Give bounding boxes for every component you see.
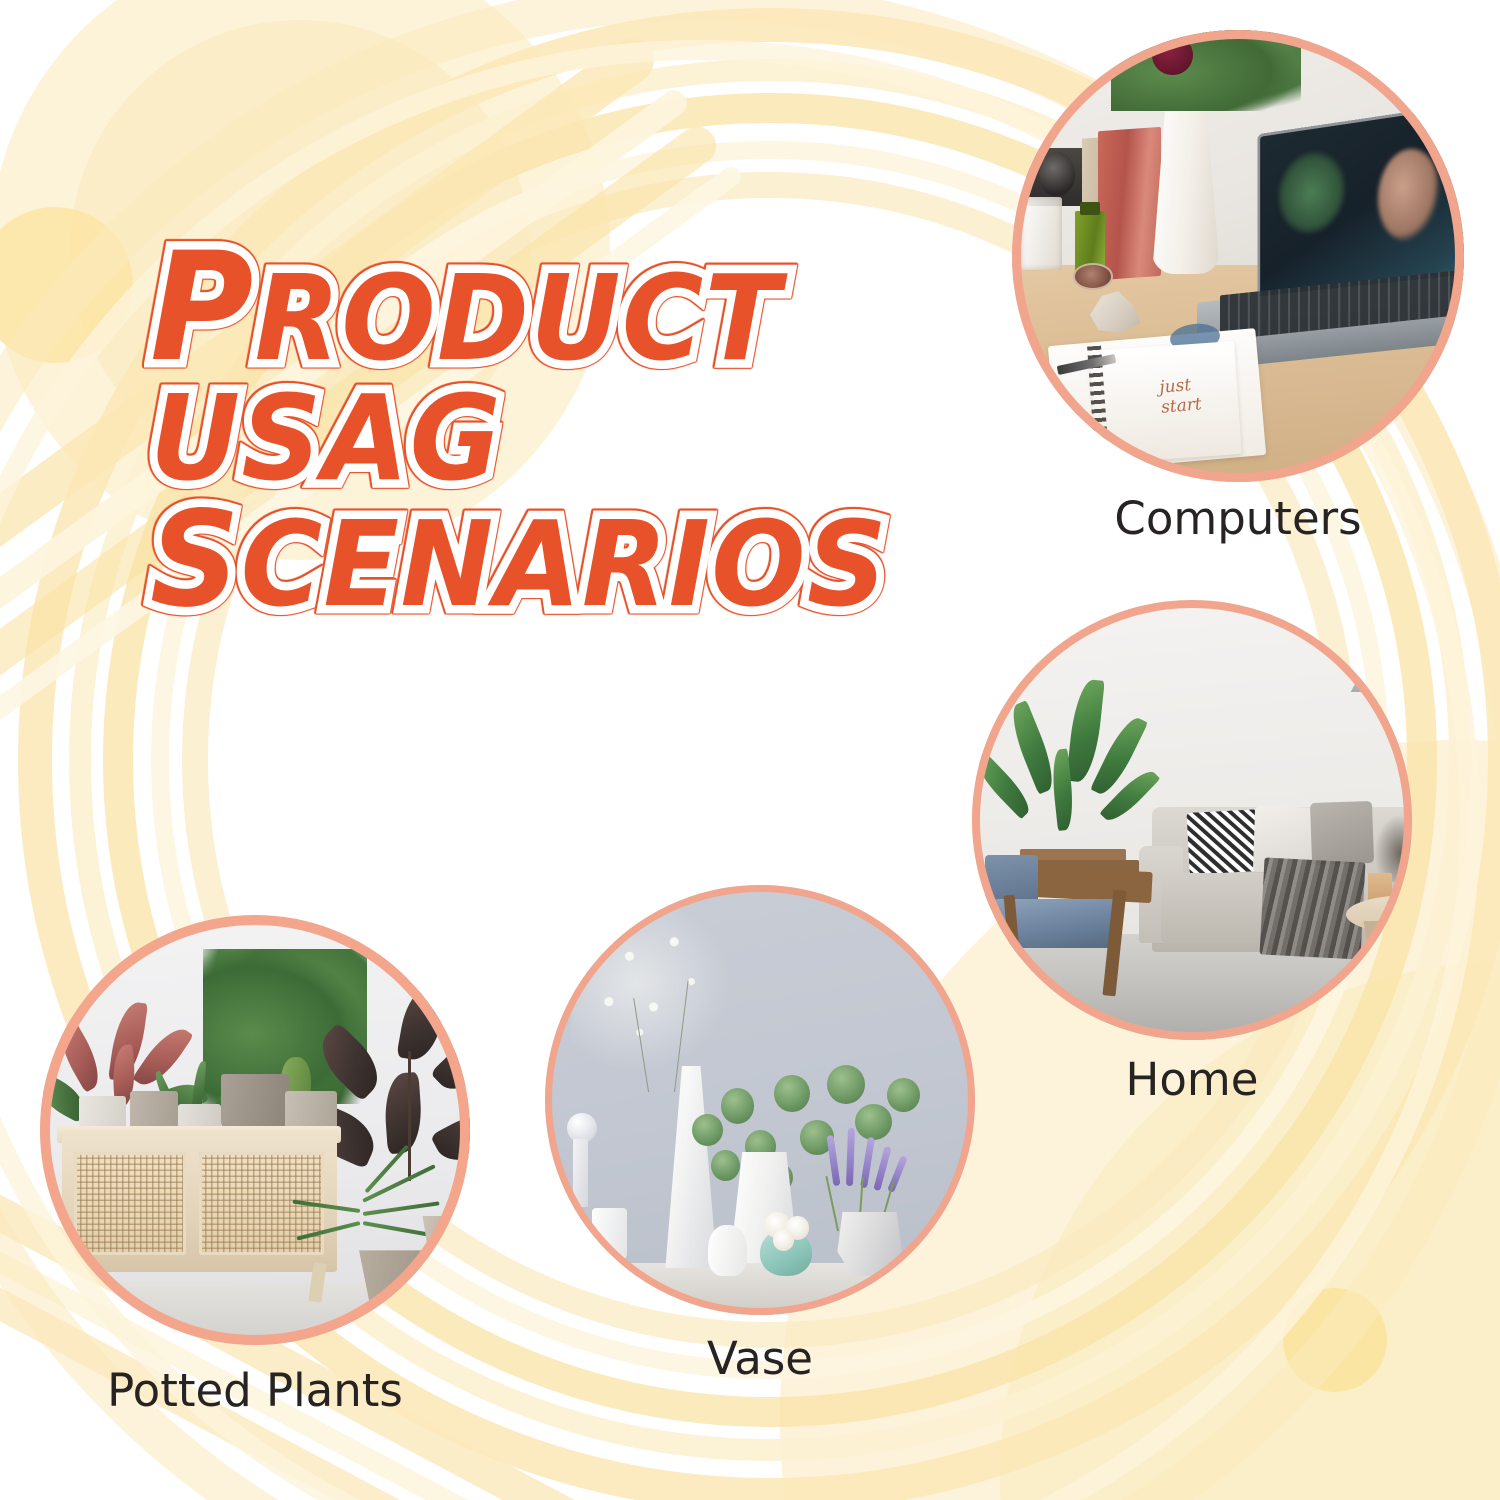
dark-leaf (430, 1104, 470, 1172)
greenery-bouquet (1111, 30, 1301, 111)
grey-pillow (1310, 801, 1374, 865)
dark-leaf (396, 982, 447, 1064)
scenario-label-home: Home (972, 1053, 1412, 1106)
palm-frond (363, 1201, 440, 1216)
plant-stem (408, 1051, 411, 1181)
title-line-3: SCENARIOS (150, 497, 902, 624)
scenario-image-home (972, 600, 1412, 1040)
pot-large-grey (221, 1074, 290, 1130)
perfume-bottle (1021, 197, 1062, 269)
muscari-spike (826, 1134, 840, 1186)
book-stack (1098, 127, 1161, 281)
dark-leaf (383, 1072, 425, 1155)
rose-bloom (1152, 35, 1193, 76)
infographic-canvas: PRODUCT USAG SCENARIOS just start (0, 0, 1500, 1500)
screen-figure (1378, 145, 1440, 245)
scenario-image-computers: just start (1012, 30, 1464, 482)
scenario-image-potted-plants (40, 915, 470, 1345)
banana-leaf-plant (1007, 679, 1148, 864)
title-line-1: PRODUCT (150, 236, 902, 380)
scenario-label-vase: Vase (545, 1332, 975, 1385)
dried-branches (1372, 811, 1412, 881)
bottle-cap (1080, 202, 1100, 216)
eucalyptus-leaf (887, 1078, 921, 1112)
glass-stand (573, 1139, 588, 1208)
palm-frond (292, 1200, 360, 1213)
eucalyptus-leaf (721, 1088, 755, 1124)
table-surface (545, 1263, 975, 1315)
eucalyptus-leaf (827, 1065, 866, 1104)
notebook-handwriting: just start (1159, 369, 1272, 437)
small-textured-vase (708, 1225, 747, 1277)
scenario-label-computers: Computers (1012, 492, 1464, 545)
scenario-label-potted-plants: Potted Plants (40, 1364, 470, 1417)
muscari-spike (846, 1128, 855, 1186)
eucalyptus-leaf (692, 1114, 723, 1147)
scenario-image-vase (545, 885, 975, 1315)
geometric-vase (837, 1212, 902, 1277)
page-title: PRODUCT USAG SCENARIOS (150, 236, 950, 624)
title-line-2: USAG (150, 382, 902, 495)
screen-plant (1278, 147, 1346, 238)
eucalyptus-leaf (774, 1075, 810, 1113)
white-rose (773, 1229, 795, 1251)
eucalyptus-leaf (711, 1150, 740, 1181)
houndstooth-pillow (1186, 809, 1260, 874)
cabinet-drawer-left[interactable] (74, 1152, 186, 1255)
palm-frond (296, 1221, 360, 1241)
cabinet-leg (79, 1263, 92, 1302)
compact-disc-case (1075, 265, 1111, 288)
side-vase (592, 1208, 626, 1264)
